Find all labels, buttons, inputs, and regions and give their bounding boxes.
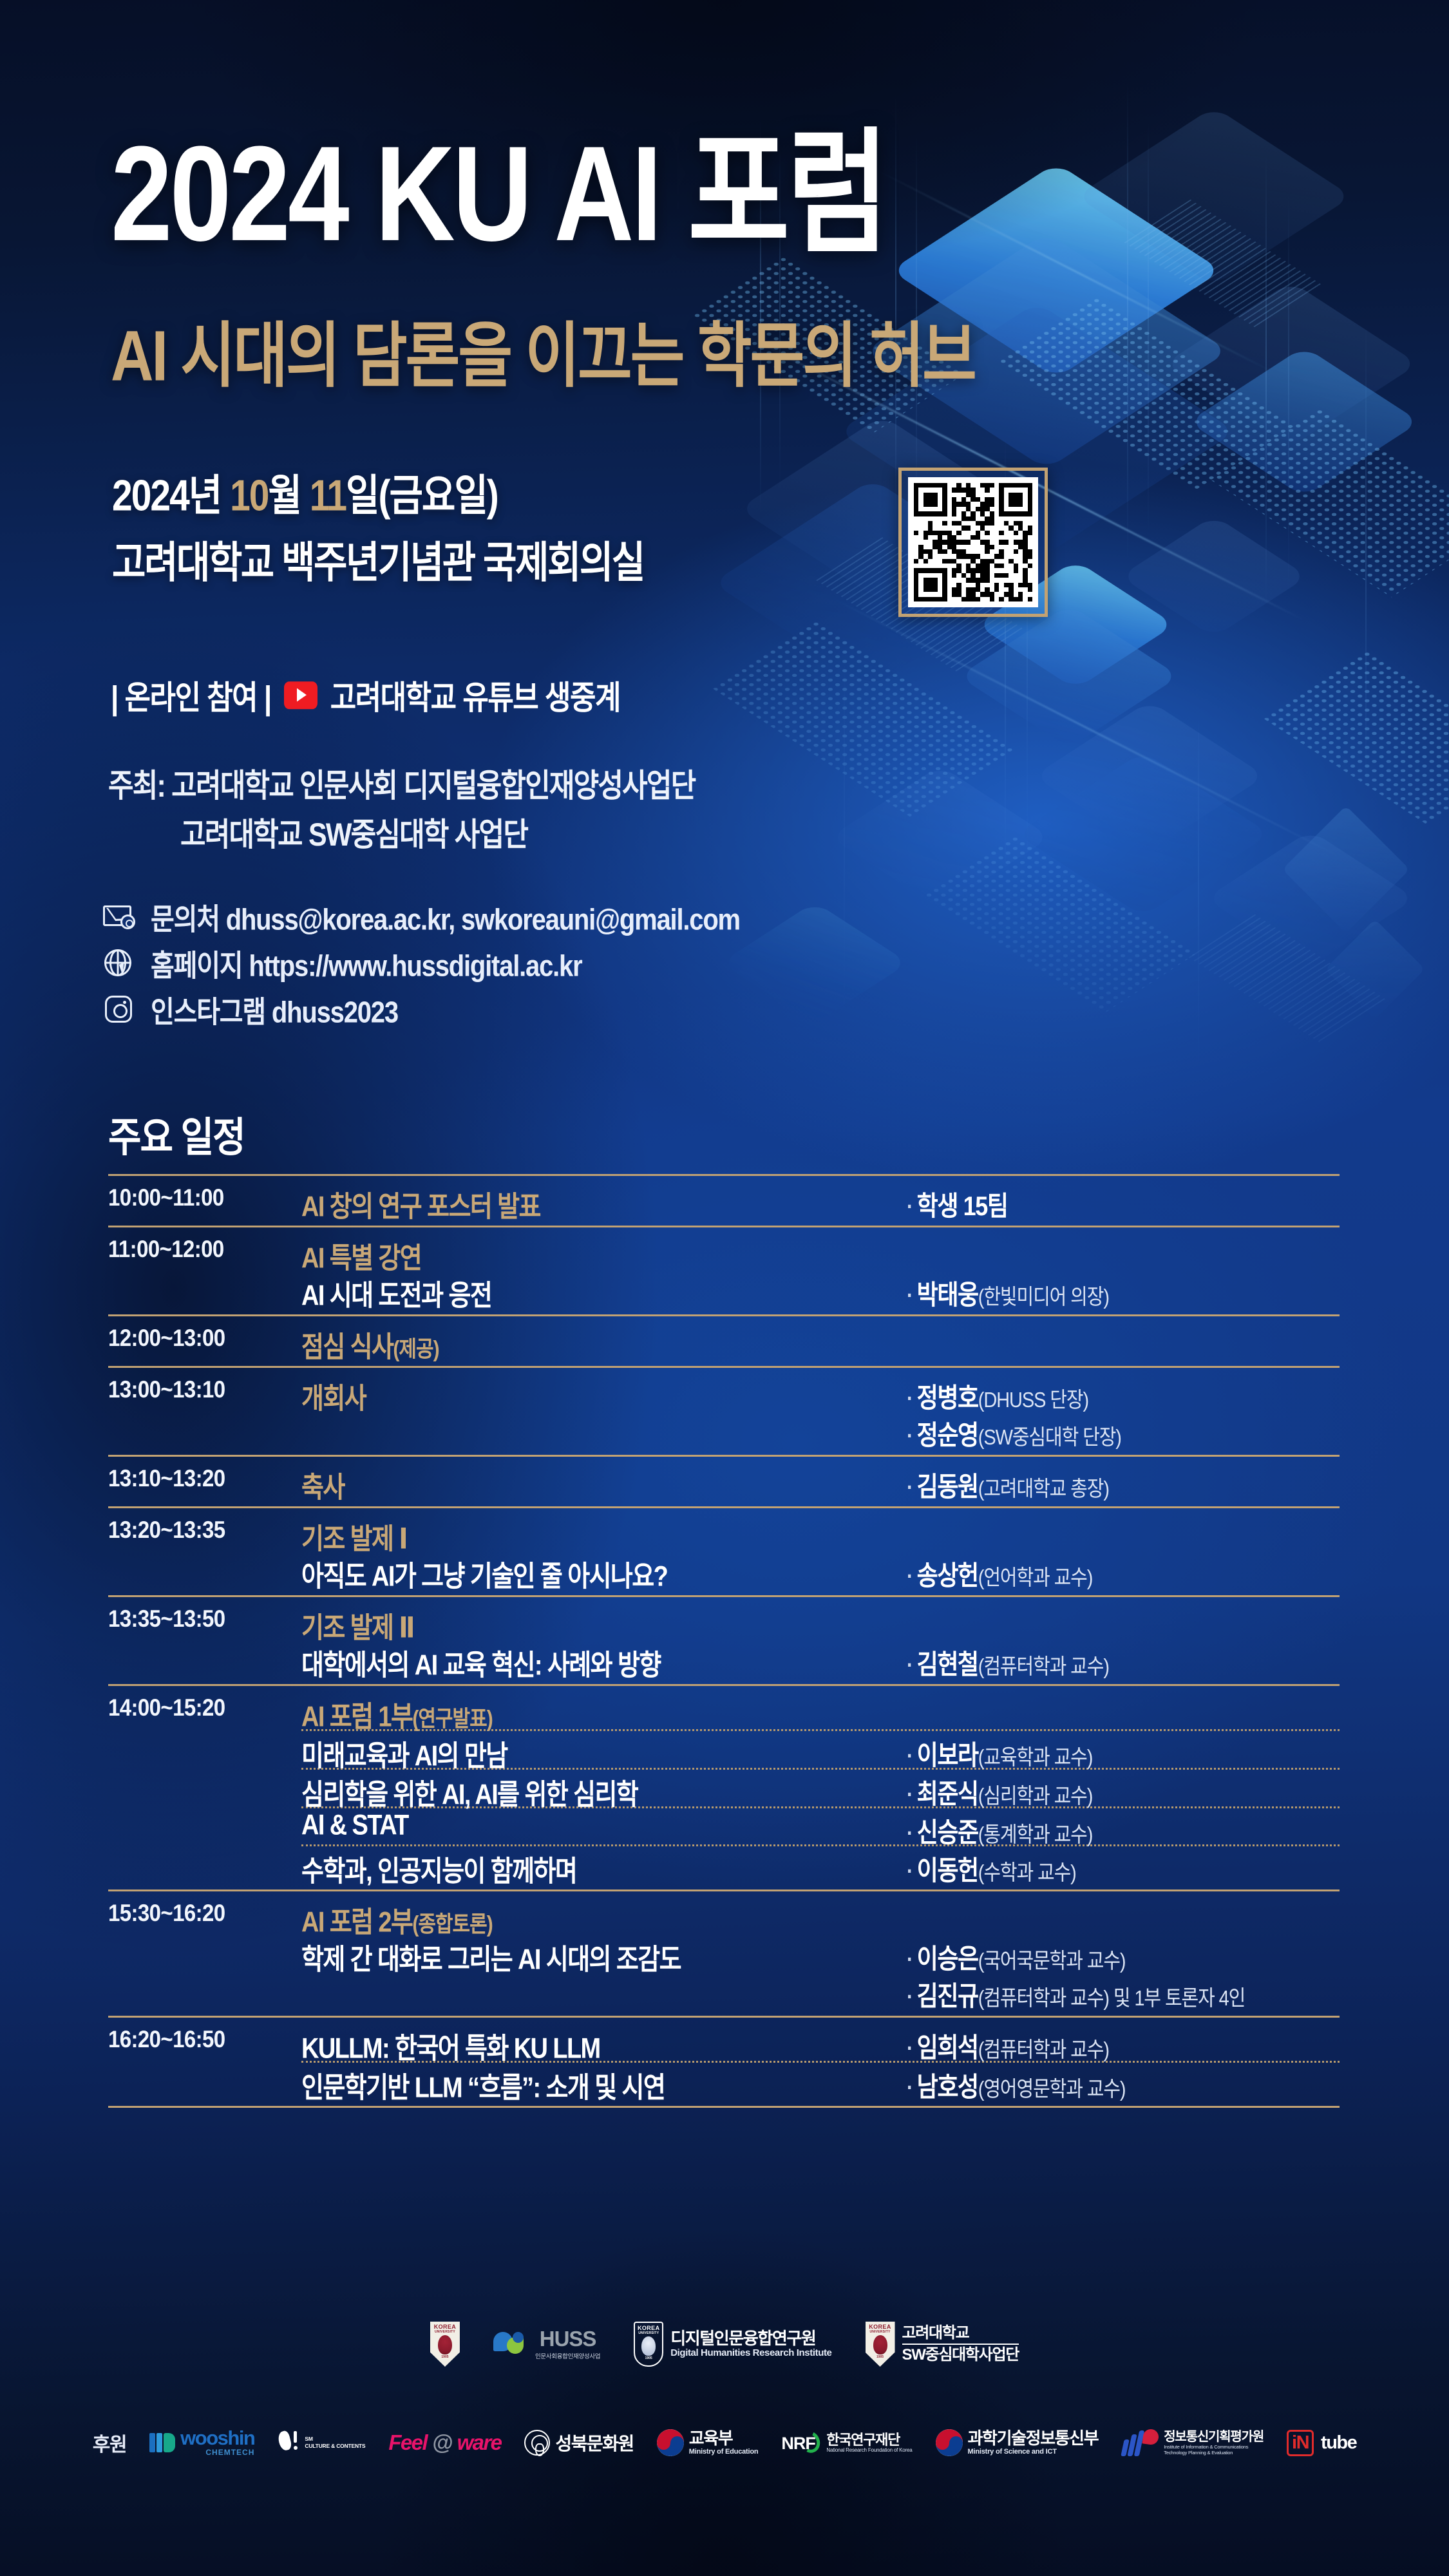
schedule-topic: 인문학기반 LLM “흐름”: 소개 및 시연 bbox=[301, 2063, 907, 2105]
moe-main: 교육부 bbox=[689, 2430, 759, 2447]
iitp-sub: Institute of Information & Communication… bbox=[1164, 2444, 1264, 2450]
schedule-time: 13:35~13:50 bbox=[108, 1603, 301, 1633]
schedule-time: 10:00~11:00 bbox=[108, 1182, 301, 1211]
schedule-speaker-affiliation: (컴퓨터학과 교수) bbox=[978, 2038, 1109, 2062]
feelware-logo: Feel@ware bbox=[388, 2430, 501, 2455]
schedule-time: 13:20~13:35 bbox=[108, 1514, 301, 1544]
schedule-body: 점심 식사(제공) bbox=[301, 1322, 1340, 1359]
bullet-icon: · bbox=[907, 1653, 913, 1678]
schedule-body: AI 포럼 2부(종합토론)학제 간 대화로 그리는 AI 시대의 조감도·이승… bbox=[301, 1897, 1340, 2009]
schedule-topic: KULLM: 한국어 특화 KU LLM bbox=[301, 2023, 907, 2066]
nrf-logo: NRF 한국연구재단 National Research Foundation … bbox=[781, 2430, 912, 2456]
schedule-speaker: ·김현철(컴퓨터학과 교수) bbox=[907, 1640, 1340, 1682]
schedule-line: 점심 식사(제공) bbox=[301, 1322, 1340, 1359]
msit-main: 과학기술정보통신부 bbox=[968, 2430, 1099, 2447]
schedule-line: AI 시대 도전과 응전·박태웅(한빛미디어 의장) bbox=[301, 1271, 1340, 1308]
schedule-topic: 기조 발제 Ⅱ bbox=[301, 1603, 907, 1645]
contact-row-instagram[interactable]: 인스타그램 dhuss2023 bbox=[103, 987, 740, 1033]
bullet-icon: · bbox=[907, 1283, 913, 1308]
schedule-line: 인문학기반 LLM “흐름”: 소개 및 시연·남호성(영어영문학과 교수) bbox=[301, 2061, 1340, 2099]
ku-sw-logo: KOREAUNIVERSITY1905 고려대학교 SW중심대학사업단 bbox=[866, 2322, 1019, 2367]
qr-code[interactable] bbox=[898, 468, 1048, 617]
schedule-speaker: ·신승준(통계학과 교수) bbox=[907, 1808, 1340, 1850]
mail-at-icon bbox=[103, 902, 137, 933]
contact-block: 문의처 dhuss@korea.ac.kr, swkoreauni@gmail.… bbox=[103, 894, 740, 1033]
huss-sub: 인문사회융합인재양성사업 bbox=[535, 2351, 600, 2360]
schedule-group: 13:00~13:10개회사·정병호(DHUSS 단장)·정순영(SW중심대학 … bbox=[108, 1366, 1340, 1455]
schedule-line: 수학과, 인공지능이 함께하며·이동헌(수학과 교수) bbox=[301, 1844, 1340, 1883]
instagram-icon bbox=[103, 994, 137, 1025]
schedule-speaker-affiliation: (SW중심대학 단장) bbox=[978, 1426, 1121, 1450]
schedule-topic: 점심 식사(제공) bbox=[301, 1322, 907, 1365]
date-month: 10 bbox=[230, 472, 268, 521]
schedule-heading: 주요 일정 bbox=[108, 1104, 245, 1164]
schedule-speaker-affiliation: (영어영문학과 교수) bbox=[978, 2078, 1126, 2101]
bullet-icon: · bbox=[907, 1859, 913, 1884]
schedule-time: 13:00~13:10 bbox=[108, 1374, 301, 1403]
schedule-speaker-affiliation: (수학과 교수) bbox=[978, 1861, 1076, 1885]
schedule-topic: 축사 bbox=[301, 1463, 907, 1505]
bullet-icon: · bbox=[907, 1744, 913, 1768]
schedule-line: 심리학을 위한 AI, AI를 위한 심리학·최준식(심리학과 교수) bbox=[301, 1768, 1340, 1806]
schedule-speaker: ·이보라(교육학과 교수) bbox=[907, 1731, 1340, 1773]
schedule-speaker bbox=[907, 1233, 1340, 1236]
schedule-body: 기조 발제 Ⅱ대학에서의 AI 교육 혁신: 사례와 방향·김현철(컴퓨터학과 … bbox=[301, 1603, 1340, 1678]
schedule-speaker-affiliation: (한빛미디어 의장) bbox=[978, 1285, 1109, 1309]
date-month-unit: 월 bbox=[269, 472, 310, 521]
schedule-speaker-affiliation: (교육학과 교수) bbox=[978, 1746, 1093, 1770]
schedule-line: ·정순영(SW중심대학 단장) bbox=[301, 1411, 1340, 1448]
bullet-icon: · bbox=[907, 1783, 913, 1807]
sm-culture-contents-logo: SM CULTURE & CONTENTS bbox=[278, 2430, 365, 2456]
schedule-line: 기조 발제 Ⅱ bbox=[301, 1603, 1340, 1640]
schedule-speaker: ·김진규(컴퓨터학과 교수) 및 1부 토론자 4인 bbox=[907, 1972, 1340, 2014]
schedule-body: KULLM: 한국어 특화 KU LLM·임희석(컴퓨터학과 교수)인문학기반 … bbox=[301, 2023, 1340, 2099]
poster-subtitle: AI 시대의 담론을 이끄는 학문의 허브 bbox=[111, 321, 975, 392]
schedule-line: 대학에서의 AI 교육 혁신: 사례와 방향·김현철(컴퓨터학과 교수) bbox=[301, 1640, 1340, 1678]
schedule-topic: 개회사 bbox=[301, 1374, 907, 1416]
schedule-group: 15:30~16:20AI 포럼 2부(종합토론)학제 간 대화로 그리는 AI… bbox=[108, 1889, 1340, 2016]
schedule-line: AI 창의 연구 포스터 발표·학생 15팀 bbox=[301, 1182, 1340, 1219]
schedule-speaker-count: 15팀 bbox=[963, 1191, 1008, 1222]
schedule-body: 기조 발제 Ⅰ아직도 AI가 그냥 기술인 줄 아시나요?·송상헌(언어학과 교… bbox=[301, 1514, 1340, 1589]
schedule-speaker-affiliation: (DHUSS 단장) bbox=[978, 1388, 1088, 1412]
schedule-body: 축사·김동원(고려대학교 총장) bbox=[301, 1463, 1340, 1500]
schedule-body: AI 포럼 1부(연구발표)미래교육과 AI의 만남·이보라(교육학과 교수)심… bbox=[301, 1692, 1340, 1883]
online-label: | 온라인 참여 | bbox=[111, 671, 271, 719]
schedule-speaker: ·박태웅(한빛미디어 의장) bbox=[907, 1271, 1340, 1312]
schedule-line: 개회사·정병호(DHUSS 단장) bbox=[301, 1374, 1340, 1411]
bullet-icon: · bbox=[907, 1564, 913, 1589]
schedule-topic-note: (제공) bbox=[393, 1337, 439, 1361]
schedule-speaker-affiliation: (통계학과 교수) bbox=[978, 1823, 1093, 1847]
schedule-speaker: ·송상헌(언어학과 교수) bbox=[907, 1551, 1340, 1593]
schedule-line: 아직도 AI가 그냥 기술인 줄 아시나요?·송상헌(언어학과 교수) bbox=[301, 1551, 1340, 1589]
intube-logo: iN tube bbox=[1287, 2430, 1356, 2456]
schedule-speaker bbox=[907, 1603, 1340, 1606]
msit-sub: Ministry of Science and ICT bbox=[968, 2448, 1099, 2456]
schedule-row: 15:30~16:20AI 포럼 2부(종합토론)학제 간 대화로 그리는 AI… bbox=[108, 1891, 1340, 2016]
schedule-time: 11:00~12:00 bbox=[108, 1233, 301, 1263]
schedule-line: 축사·김동원(고려대학교 총장) bbox=[301, 1463, 1340, 1500]
schedule-topic: 미래교육과 AI의 만남 bbox=[301, 1731, 907, 1774]
schedule-time: 14:00~15:20 bbox=[108, 1692, 301, 1721]
schedule-row: 12:00~13:00점심 식사(제공) bbox=[108, 1316, 1340, 1366]
date-year: 2024년 bbox=[112, 472, 230, 521]
schedule-row: 13:00~13:10개회사·정병호(DHUSS 단장)·정순영(SW중심대학 … bbox=[108, 1368, 1340, 1455]
schedule-line: 기조 발제 Ⅰ bbox=[301, 1514, 1340, 1551]
schedule-speaker: ·정순영(SW중심대학 단장) bbox=[907, 1411, 1340, 1453]
schedule-topic bbox=[301, 1972, 907, 1973]
schedule-speaker-affiliation: (컴퓨터학과 교수) bbox=[978, 1655, 1109, 1679]
youtube-icon bbox=[284, 681, 317, 709]
bullet-icon: · bbox=[907, 1195, 913, 1219]
host-line-1: 주최: 고려대학교 인문사회 디지털융합인재양성사업단 bbox=[108, 760, 695, 806]
schedule-body: 개회사·정병호(DHUSS 단장)·정순영(SW중심대학 단장) bbox=[301, 1374, 1340, 1448]
schedule-row: 13:10~13:20축사·김동원(고려대학교 총장) bbox=[108, 1457, 1340, 1506]
schedule-speaker: ·김동원(고려대학교 총장) bbox=[907, 1463, 1340, 1504]
schedule-body: AI 창의 연구 포스터 발표·학생 15팀 bbox=[301, 1182, 1340, 1219]
contact-row-email[interactable]: 문의처 dhuss@korea.ac.kr, swkoreauni@gmail.… bbox=[103, 894, 740, 940]
contact-website-text: 홈페이지 https://www.hussdigital.ac.kr bbox=[151, 942, 582, 985]
contact-email-text: 문의처 dhuss@korea.ac.kr, swkoreauni@gmail.… bbox=[151, 895, 740, 938]
schedule-topic: 수학과, 인공지능이 함께하며 bbox=[301, 1846, 907, 1889]
schedule-time: 16:20~16:50 bbox=[108, 2023, 301, 2053]
schedule-topic: 기조 발제 Ⅰ bbox=[301, 1514, 907, 1557]
schedule-topic: 학제 간 대화로 그리는 AI 시대의 조감도 bbox=[301, 1935, 907, 1977]
schedule-row: 13:20~13:35기조 발제 Ⅰ아직도 AI가 그냥 기술인 줄 아시나요?… bbox=[108, 1508, 1340, 1595]
bullet-icon: · bbox=[907, 2076, 913, 2100]
schedule-speaker-affiliation: (언어학과 교수) bbox=[978, 1566, 1093, 1590]
schedule-topic-note: (연구발표) bbox=[412, 1707, 492, 1731]
schedule-group: 10:00~11:00AI 창의 연구 포스터 발표·학생 15팀 bbox=[108, 1174, 1340, 1226]
bullet-icon: · bbox=[907, 1985, 913, 2009]
schedule-row: 14:00~15:20AI 포럼 1부(연구발표)미래교육과 AI의 만남·이보… bbox=[108, 1686, 1340, 1889]
schedule-speaker-affiliation: (컴퓨터학과 교수) 및 1부 토론자 4인 bbox=[978, 1987, 1245, 2011]
dhri-sub: Digital Humanities Research Institute bbox=[670, 2347, 831, 2358]
ministry-of-education-logo: 교육부 Ministry of Education bbox=[657, 2429, 759, 2456]
ku-sw-sub: SW중심대학사업단 bbox=[902, 2345, 1019, 2364]
schedule-row: 11:00~12:00AI 특별 강연AI 시대 도전과 응전·박태웅(한빛미디… bbox=[108, 1227, 1340, 1314]
ku-sw-label: 고려대학교 bbox=[902, 2324, 1019, 2345]
bullet-icon: · bbox=[907, 1424, 913, 1448]
schedule-topic: 대학에서의 AI 교육 혁신: 사례와 방향 bbox=[301, 1640, 907, 1683]
iitp-logo: 정보통신기획평가원 Institute of Information & Com… bbox=[1121, 2429, 1264, 2456]
sm-main: SM bbox=[305, 2436, 365, 2443]
nrf-sub2: National Research Foundation of Korea bbox=[826, 2447, 912, 2453]
online-channel: 고려대학교 유튜브 생중계 bbox=[330, 671, 620, 719]
schedule-group: 13:20~13:35기조 발제 Ⅰ아직도 AI가 그냥 기술인 줄 아시나요?… bbox=[108, 1506, 1340, 1595]
dhri-logo: KOREAUNIVERSITY1905 디지털인문융합연구원 Digital H… bbox=[634, 2322, 831, 2367]
schedule-topic: AI 시대 도전과 응전 bbox=[301, 1271, 907, 1313]
seongbuk-cultural-center-logo: 성북문화원 bbox=[524, 2430, 633, 2456]
schedule-speaker bbox=[907, 1514, 1340, 1517]
organizer-logos: KOREAUNIVERSITY1905 HUSS 인문사회융합인재양성사업 KO… bbox=[0, 2302, 1449, 2386]
schedule-row: 13:35~13:50기조 발제 Ⅱ대학에서의 AI 교육 혁신: 사례와 방향… bbox=[108, 1597, 1340, 1684]
event-date: 2024년 10월 11일(금요일) bbox=[112, 461, 498, 524]
schedule-body: AI 특별 강연AI 시대 도전과 응전·박태웅(한빛미디어 의장) bbox=[301, 1233, 1340, 1308]
schedule-time: 13:10~13:20 bbox=[108, 1463, 301, 1492]
schedule-topic: AI 특별 강연 bbox=[301, 1233, 907, 1276]
schedule-topic: AI 포럼 2부(종합토론) bbox=[301, 1897, 907, 1940]
intube-sub: tube bbox=[1321, 2432, 1356, 2454]
date-day: 11 bbox=[310, 472, 346, 521]
online-participation: | 온라인 참여 | 고려대학교 유튜브 생중계 bbox=[111, 671, 620, 719]
schedule-group: 12:00~13:00점심 식사(제공) bbox=[108, 1314, 1340, 1366]
sm-sub: CULTURE & CONTENTS bbox=[305, 2443, 365, 2450]
bullet-icon: · bbox=[907, 1475, 913, 1500]
event-venue: 고려대학교 백주년기념관 국제회의실 bbox=[112, 528, 644, 591]
schedule-topic: AI & STAT bbox=[301, 1808, 907, 1842]
schedule-topic-note: (종합토론) bbox=[412, 1912, 492, 1937]
schedule-speaker-affiliation: (국어국문학과 교수) bbox=[978, 1949, 1126, 1973]
wooshin-chemtech-logo: wooshin CHEMTECH bbox=[149, 2429, 254, 2456]
bullet-icon: · bbox=[907, 1387, 913, 1411]
schedule-speaker bbox=[907, 1322, 1340, 1325]
schedule-group: 16:20~16:50KULLM: 한국어 특화 KU LLM·임희석(컴퓨터학… bbox=[108, 2016, 1340, 2108]
globe-icon bbox=[103, 948, 137, 979]
bullet-icon: · bbox=[907, 1947, 913, 1972]
schedule-group: 13:10~13:20축사·김동원(고려대학교 총장) bbox=[108, 1455, 1340, 1506]
iitp-sub2: Technology Planning & Evaluation bbox=[1164, 2450, 1264, 2456]
sponsor-logos: 후원 wooshin CHEMTECH SM CULTURE & CONTENT… bbox=[0, 2407, 1449, 2478]
host-line-2: 고려대학교 SW중심대학 사업단 bbox=[180, 809, 527, 855]
schedule-speaker: ·임희석(컴퓨터학과 교수) bbox=[907, 2023, 1340, 2065]
schedule-row: 10:00~11:00AI 창의 연구 포스터 발표·학생 15팀 bbox=[108, 1176, 1340, 1226]
huss-logo: HUSS 인문사회융합인재양성사업 bbox=[493, 2328, 600, 2360]
schedule-line: ·김진규(컴퓨터학과 교수) 및 1부 토론자 4인 bbox=[301, 1972, 1340, 2009]
qr-matrix bbox=[914, 483, 1032, 601]
schedule-row: 16:20~16:50KULLM: 한국어 특화 KU LLM·임희석(컴퓨터학… bbox=[108, 2018, 1340, 2106]
bullet-icon: · bbox=[907, 1821, 913, 1846]
schedule-group: 11:00~12:00AI 특별 강연AI 시대 도전과 응전·박태웅(한빛미디… bbox=[108, 1226, 1340, 1314]
schedule-time: 12:00~13:00 bbox=[108, 1322, 301, 1352]
schedule-topic: 심리학을 위한 AI, AI를 위한 심리학 bbox=[301, 1770, 907, 1812]
schedule-time: 15:30~16:20 bbox=[108, 1897, 301, 1927]
schedule-speaker bbox=[907, 1692, 1340, 1695]
huss-label: HUSS bbox=[540, 2328, 596, 2349]
schedule-speaker: ·학생 15팀 bbox=[907, 1182, 1340, 1224]
contact-instagram-text: 인스타그램 dhuss2023 bbox=[151, 988, 398, 1031]
schedule-table: 10:00~11:00AI 창의 연구 포스터 발표·학생 15팀11:00~1… bbox=[108, 1174, 1340, 2108]
schedule-line: AI 포럼 1부(연구발표) bbox=[301, 1692, 1340, 1729]
seongbuk-label: 성북문화원 bbox=[555, 2430, 633, 2456]
intube-main: iN bbox=[1292, 2432, 1309, 2453]
schedule-topic bbox=[301, 1411, 907, 1412]
schedule-group: 14:00~15:20AI 포럼 1부(연구발표)미래교육과 AI의 만남·이보… bbox=[108, 1684, 1340, 1889]
schedule-topic: AI 창의 연구 포스터 발표 bbox=[301, 1182, 907, 1224]
schedule-speaker: ·최준식(심리학과 교수) bbox=[907, 1770, 1340, 1812]
schedule-line: AI 특별 강연 bbox=[301, 1233, 1340, 1271]
date-day-rest: 일(금요일) bbox=[346, 472, 498, 521]
moe-sub: Ministry of Education bbox=[689, 2448, 759, 2456]
schedule-speaker: ·남호성(영어영문학과 교수) bbox=[907, 2063, 1340, 2105]
schedule-speaker: ·이승은(국어국문학과 교수) bbox=[907, 1935, 1340, 1976]
poster-title: 2024 KU AI 포럼 bbox=[111, 126, 887, 261]
schedule-topic: 아직도 AI가 그냥 기술인 줄 아시나요? bbox=[301, 1551, 907, 1594]
wooshin-main: wooshin bbox=[180, 2429, 254, 2447]
schedule-speaker: ·정병호(DHUSS 단장) bbox=[907, 1374, 1340, 1416]
contact-row-website[interactable]: 홈페이지 https://www.hussdigital.ac.kr bbox=[103, 940, 740, 987]
schedule-line: 미래교육과 AI의 만남·이보라(교육학과 교수) bbox=[301, 1729, 1340, 1768]
nrf-sub: 한국연구재단 bbox=[826, 2432, 912, 2447]
schedule-line: KULLM: 한국어 특화 KU LLM·임희석(컴퓨터학과 교수) bbox=[301, 2023, 1340, 2061]
ministry-of-science-ict-logo: 과학기술정보통신부 Ministry of Science and ICT bbox=[936, 2429, 1099, 2456]
schedule-speaker: ·이동헌(수학과 교수) bbox=[907, 1846, 1340, 1888]
bullet-icon: · bbox=[907, 2036, 913, 2061]
dhri-label: 디지털인문융합연구원 bbox=[670, 2329, 815, 2348]
schedule-line: AI & STAT·신승준(통계학과 교수) bbox=[301, 1806, 1340, 1844]
schedule-speaker-affiliation: (심리학과 교수) bbox=[978, 1785, 1093, 1808]
korea-university-emblem: KOREAUNIVERSITY1905 bbox=[430, 2322, 460, 2367]
iitp-main: 정보통신기획평가원 bbox=[1164, 2430, 1264, 2444]
schedule-line: AI 포럼 2부(종합토론) bbox=[301, 1897, 1340, 1935]
schedule-speaker-affiliation: (고려대학교 총장) bbox=[978, 1477, 1109, 1501]
schedule-topic: AI 포럼 1부(연구발표) bbox=[301, 1692, 907, 1734]
sponsor-label: 후원 bbox=[93, 2429, 126, 2457]
schedule-speaker bbox=[907, 1897, 1340, 1900]
schedule-group: 13:35~13:50기조 발제 Ⅱ대학에서의 AI 교육 혁신: 사례와 방향… bbox=[108, 1595, 1340, 1684]
schedule-line: 학제 간 대화로 그리는 AI 시대의 조감도·이승은(국어국문학과 교수) bbox=[301, 1935, 1340, 1972]
